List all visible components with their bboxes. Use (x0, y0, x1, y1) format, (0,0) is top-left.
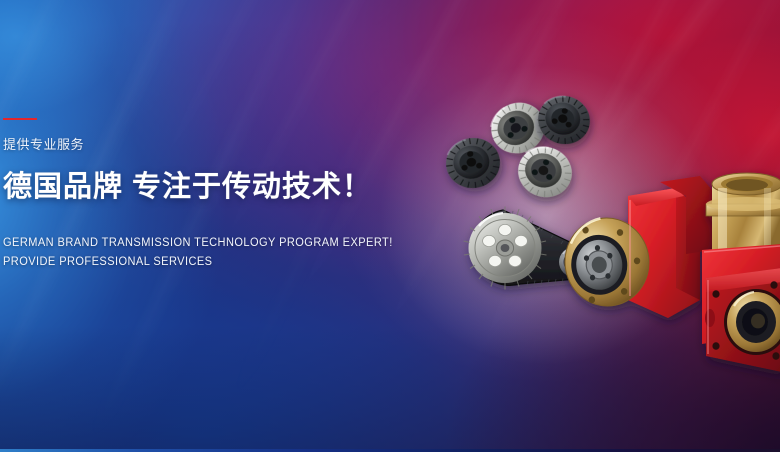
belt-drive-large-pulley (464, 207, 547, 290)
subline-one: GERMAN BRAND TRANSMISSION TECHNOLOGY PRO… (3, 234, 406, 253)
eyebrow-text: 提供专业服务 (3, 138, 423, 151)
timing-pulley-silver-top-left (483, 94, 553, 162)
timing-pulley-dark-top-right (533, 90, 595, 149)
subline-two: PROVIDE PROFESSIONAL SERVICES (3, 253, 406, 272)
banner-copy: 提供专业服务 德国品牌 专注于传动技术！ GERMAN BRAND TRANSM… (3, 118, 423, 272)
timing-pulley-silver-mid-right (512, 140, 579, 204)
timing-pulley-dark-mid-left (443, 134, 503, 191)
belt-drive-small-pulley (559, 247, 591, 278)
brass-output-housing (706, 173, 780, 258)
right-angle-planetary-gearbox-right (700, 173, 780, 452)
page-title: 德国品牌 专注于传动技术！ (3, 173, 423, 202)
promo-banner: 提供专业服务 德国品牌 专注于传动技术！ GERMAN BRAND TRANSM… (0, 0, 780, 452)
timing-belt-drive-assembly (464, 207, 593, 290)
accent-rule (3, 118, 37, 120)
right-angle-planetary-gearbox-left (561, 176, 712, 318)
